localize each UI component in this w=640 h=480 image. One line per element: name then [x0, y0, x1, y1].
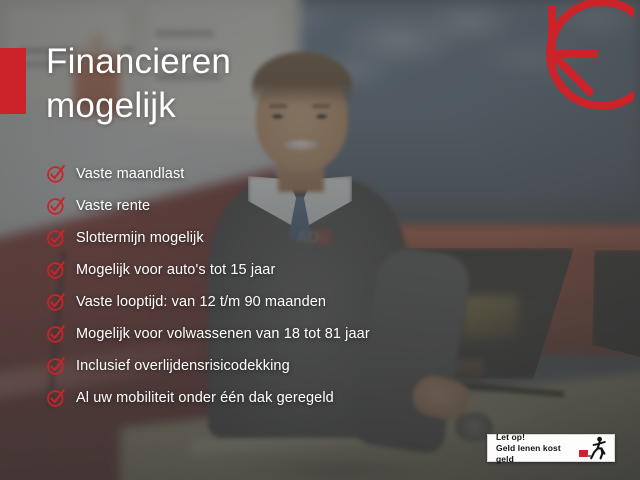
- check-circle-icon: [46, 228, 66, 248]
- list-item-label: Mogelijk voor auto's tot 15 jaar: [76, 262, 275, 278]
- money-chip-icon: [579, 450, 588, 457]
- list-item: Vaste looptijd: van 12 t/m 90 maanden: [46, 286, 566, 318]
- benefits-list: Vaste maandlast Vaste rente Slottermijn …: [46, 158, 566, 414]
- list-item-label: Vaste rente: [76, 198, 150, 214]
- list-item-label: Slottermijn mogelijk: [76, 230, 204, 246]
- warning-line-2: Geld lenen kost geld: [496, 443, 576, 465]
- walking-person-icon: [588, 436, 608, 460]
- check-circle-icon: [46, 356, 66, 376]
- promo-banner: AD Financieren mogelijk Vaste maandlast …: [0, 0, 640, 480]
- check-circle-icon: [46, 196, 66, 216]
- circular-arrow-decoration: [540, 0, 634, 128]
- check-circle-icon: [46, 388, 66, 408]
- page-title: Financieren mogelijk: [46, 40, 376, 128]
- list-item: Inclusief overlijdensrisicodekking: [46, 350, 566, 382]
- list-item: Al uw mobiliteit onder één dak geregeld: [46, 382, 566, 414]
- list-item-label: Al uw mobiliteit onder één dak geregeld: [76, 390, 334, 406]
- list-item: Mogelijk voor auto's tot 15 jaar: [46, 254, 566, 286]
- list-item: Vaste rente: [46, 190, 566, 222]
- warning-text: Let op! Geld lenen kost geld: [496, 432, 588, 465]
- check-circle-icon: [46, 324, 66, 344]
- warning-line-1: Let op!: [496, 432, 588, 443]
- list-item-label: Vaste looptijd: van 12 t/m 90 maanden: [76, 294, 326, 310]
- check-circle-icon: [46, 260, 66, 280]
- status-badge: Let op! Geld lenen kost geld: [487, 434, 615, 462]
- list-item-label: Vaste maandlast: [76, 166, 184, 182]
- list-item: Slottermijn mogelijk: [46, 222, 566, 254]
- warning-line-2-row: Geld lenen kost geld: [496, 443, 588, 465]
- red-accent-block: [0, 48, 26, 114]
- check-circle-icon: [46, 164, 66, 184]
- list-item-label: Mogelijk voor volwassenen van 18 tot 81 …: [76, 326, 370, 342]
- check-circle-icon: [46, 292, 66, 312]
- list-item: Vaste maandlast: [46, 158, 566, 190]
- list-item: Mogelijk voor volwassenen van 18 tot 81 …: [46, 318, 566, 350]
- list-item-label: Inclusief overlijdensrisicodekking: [76, 358, 290, 374]
- circular-arrow-icon: [540, 0, 634, 128]
